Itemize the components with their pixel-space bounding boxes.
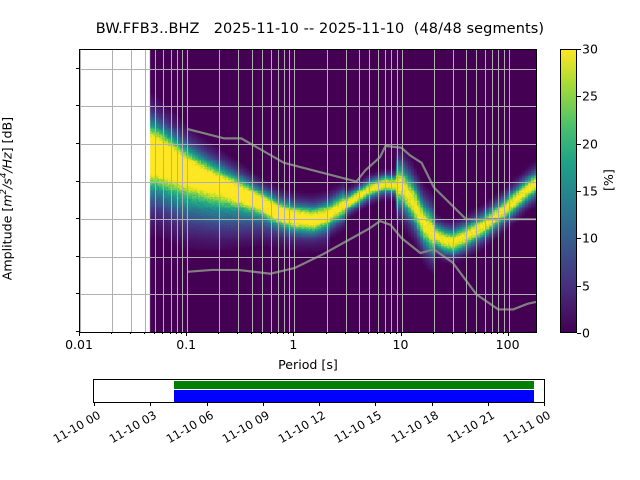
timeline-tick-mark (544, 402, 545, 406)
timeline-tick-mark (375, 402, 376, 406)
timeline-tick-mark (488, 402, 489, 406)
timeline-tick-mark (207, 402, 208, 406)
timeline-tick-mark (263, 402, 264, 406)
timeline-tick-label: 11-10 09 (219, 409, 269, 446)
timeline-tick-mark (319, 402, 320, 406)
timeline-tick-label: 11-10 12 (276, 409, 326, 446)
timeline-tick-label: 11-10 15 (332, 409, 382, 446)
timeline-bar-psd-segments (174, 390, 534, 402)
timeline-tick-label: 11-10 18 (388, 409, 438, 446)
timeline-bar-data-coverage (174, 381, 534, 390)
timeline-tick-label: 11-10 00 (51, 409, 101, 446)
timeline-tick-label: 11-10 21 (444, 409, 494, 446)
timeline-ticks: 11-10 0011-10 0311-10 0611-10 0911-10 12… (0, 0, 640, 480)
timeline-tick-mark (94, 402, 95, 406)
timeline-tick-label: 11-10 06 (163, 409, 213, 446)
timeline-tick-label: 11-10 03 (107, 409, 157, 446)
timeline-tick-mark (150, 402, 151, 406)
ppsd-figure: BW.FFB3..BHZ 2025-11-10 -- 2025-11-10 (4… (0, 0, 640, 480)
timeline-tick-label: 11-11 00 (501, 409, 551, 446)
timeline-tick-mark (432, 402, 433, 406)
